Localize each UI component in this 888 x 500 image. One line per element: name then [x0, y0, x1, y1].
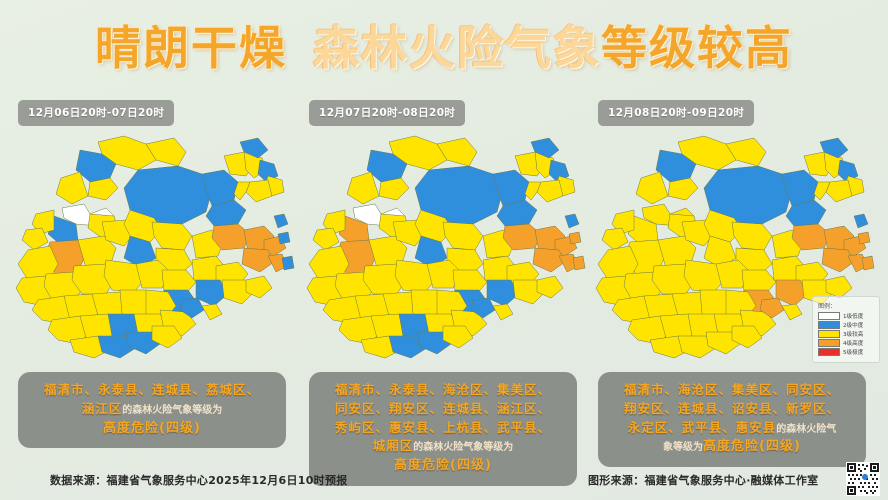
places-line: 福清市、海沧区、集美区、同安区、	[606, 381, 858, 400]
legend-row: 1级低度	[818, 312, 875, 320]
legend-label: 4级高度	[843, 339, 863, 347]
legend-swatch-level3	[818, 330, 840, 338]
level-text: 高度危险(四级)	[317, 456, 569, 476]
legend-label: 1级低度	[843, 312, 863, 320]
footer-graphic-source: 图形来源：福建省气象服务中心·融媒体工作室	[588, 472, 818, 488]
places-line: 秀屿区、惠安县、上杭县、武平县、	[317, 419, 569, 438]
forecast-panel-day1: 12月06日20时-07日20时	[6, 100, 296, 460]
map-day1	[6, 130, 296, 362]
places-line: 福清市、永泰县、连城县、荔城区、	[26, 381, 278, 400]
title-segment-2: 森林火险气象	[313, 22, 601, 75]
places-line: 福清市、永泰县、海沧区、集美区、	[317, 381, 569, 400]
info-box-day3: 福清市、海沧区、集美区、同安区、 翔安区、连城县、诏安县、新罗区、 永定区、武平…	[598, 372, 866, 467]
map-day2	[297, 130, 587, 362]
legend-title: 图例：	[818, 301, 875, 310]
legend-label: 3级较高	[843, 330, 863, 338]
legend-swatch-level5	[818, 348, 840, 356]
legend-row: 3级较高	[818, 330, 875, 338]
title-segment-1: 晴朗干燥	[95, 22, 287, 75]
date-chip-day3: 12月08日20时-09日20时	[598, 100, 754, 126]
title-segment-3: 等级较高	[601, 22, 793, 75]
level-text: 高度危险(四级)	[26, 419, 278, 439]
places-line: 永定区、武平县、惠安县	[628, 420, 777, 435]
tail-text: 的森林火险气象等级为	[122, 405, 222, 416]
level-text: 高度危险(四级)	[703, 439, 801, 454]
forecast-panel-day3: 12月08日20时-09日20时	[586, 100, 876, 460]
info-box-day1: 福清市、永泰县、连城县、荔城区、 涵江区的森林火险气象等级为 高度危险(四级)	[18, 372, 286, 448]
legend-label: 5级极度	[843, 348, 863, 356]
legend-swatch-level1	[818, 312, 840, 320]
legend-swatch-level4	[818, 339, 840, 347]
tail-text: 的森林火险气象等级为	[413, 442, 513, 453]
legend-row: 2级中度	[818, 321, 875, 329]
places-line: 同安区、翔安区、连城县、涵江区、	[317, 400, 569, 419]
legend-row: 5级极度	[818, 348, 875, 356]
info-box-day2: 福清市、永泰县、海沧区、集美区、 同安区、翔安区、连城县、涵江区、 秀屿区、惠安…	[309, 372, 577, 486]
places-line: 城厢区	[373, 438, 414, 453]
legend-row: 4级高度	[818, 339, 875, 347]
legend: 图例： 1级低度 2级中度 3级较高 4级高度 5级极度	[812, 296, 880, 363]
date-chip-day1: 12月06日20时-07日20时	[18, 100, 174, 126]
legend-swatch-level2	[818, 321, 840, 329]
footer-data-source: 数据来源：福建省气象服务中心2025年12月6日10时预报	[50, 472, 348, 488]
forecast-panel-day2: 12月07日20时-08日20时	[297, 100, 587, 460]
qr-code-icon	[846, 462, 880, 496]
places-line: 翔安区、连城县、诏安县、新罗区、	[606, 400, 858, 419]
tail-text: 的森林火险气	[776, 424, 836, 435]
places-line: 涵江区	[82, 401, 123, 416]
page-title: 晴朗干燥森林火险气象等级较高	[0, 22, 888, 75]
tail-text-2: 象等级为	[663, 442, 703, 453]
legend-label: 2级中度	[843, 321, 863, 329]
date-chip-day2: 12月07日20时-08日20时	[309, 100, 465, 126]
